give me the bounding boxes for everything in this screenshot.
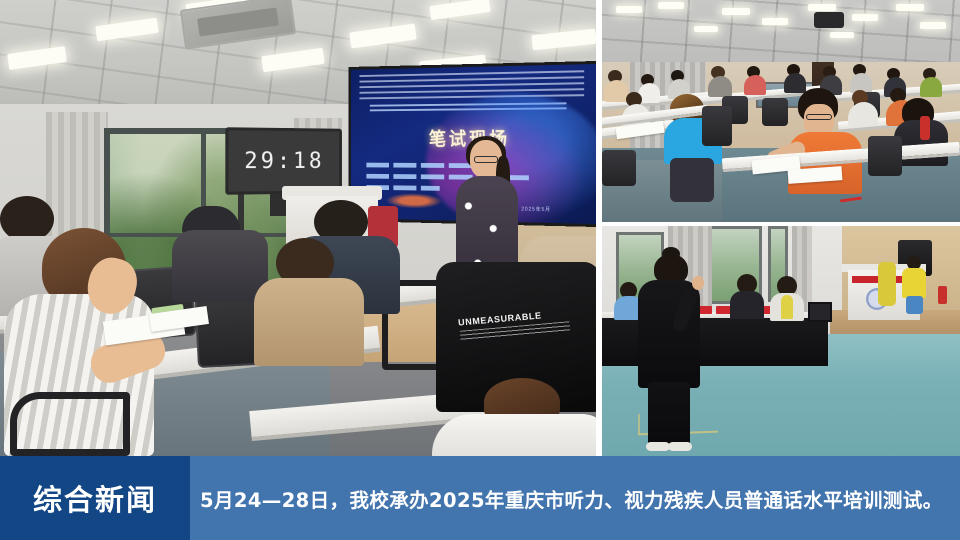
- photo-exam-hall-candidates: [602, 0, 960, 222]
- person-scarf: [781, 295, 793, 319]
- person-torso: [708, 76, 732, 97]
- staff-person-yellow-2: [878, 262, 896, 306]
- person-shoe: [668, 442, 692, 451]
- photo-oral-assessment-room: [602, 226, 960, 456]
- person-torso: [744, 75, 766, 95]
- person-shoe: [646, 442, 670, 451]
- banner-category-label: 综合新闻: [33, 477, 157, 519]
- person-trousers: [906, 296, 923, 314]
- office-chair: [702, 106, 732, 146]
- photo-collage: 笔试现场 2025年5月 29:18: [0, 0, 960, 456]
- person-trousers: [670, 158, 714, 202]
- office-chair: [868, 136, 902, 176]
- ceiling-light: [762, 18, 788, 25]
- wheelchair: [10, 392, 130, 456]
- ceiling-light: [616, 6, 642, 13]
- person-torso: [730, 291, 764, 319]
- water-bottle: [920, 116, 930, 140]
- banner-caption-container: 5月24—28日，我校承办2025年重庆市听力、视力残疾人员普通话水平培训测试。: [200, 456, 950, 540]
- projector: [814, 12, 844, 28]
- test-taker-person: [638, 254, 700, 446]
- screen-date: 2025年5月: [521, 206, 551, 213]
- countdown-timer-value: 29:18: [244, 148, 324, 173]
- person-hoodie: [432, 414, 596, 456]
- ceiling-light: [830, 32, 854, 38]
- eyeglasses-icon: [806, 114, 832, 120]
- person-torso: [604, 80, 628, 102]
- water-bottle: [938, 286, 947, 304]
- person-hand: [692, 276, 704, 290]
- student-person: [254, 238, 364, 362]
- office-chair: [602, 150, 636, 186]
- countdown-monitor: 29:18: [225, 127, 342, 195]
- person-shirt: [902, 268, 926, 298]
- caption-banner: 综合新闻 5月24—28日，我校承办2025年重庆市听力、视力残疾人员普通话水平…: [0, 456, 960, 540]
- staff-person-yellow: [902, 256, 926, 314]
- eyeglasses-icon: [474, 156, 498, 163]
- student-person-white-hoodie: [398, 378, 596, 456]
- banner-category-tag: 综合新闻: [0, 456, 190, 540]
- ceiling-light: [852, 14, 878, 21]
- ceiling-light: [658, 2, 684, 9]
- ceiling-light: [896, 4, 924, 11]
- ceiling-light: [694, 26, 718, 32]
- person-torso: [784, 73, 806, 93]
- ceiling-light: [920, 22, 946, 29]
- person-torso: [848, 102, 878, 126]
- judges-table: [602, 318, 828, 366]
- banner-caption-text: 5月24—28日，我校承办2025年重庆市听力、视力残疾人员普通话水平培训测试。: [200, 484, 943, 513]
- office-chair: [762, 98, 788, 126]
- monitor: [808, 302, 832, 322]
- news-photo-page: 笔试现场 2025年5月 29:18: [0, 0, 960, 540]
- person-torso: [254, 278, 364, 366]
- person-torso: [920, 77, 942, 97]
- ceiling-light: [722, 8, 750, 15]
- person-legs: [648, 382, 690, 448]
- photo-classroom-written-exam: 笔试现场 2025年5月 29:18: [0, 0, 596, 456]
- ceiling-light: [808, 4, 836, 11]
